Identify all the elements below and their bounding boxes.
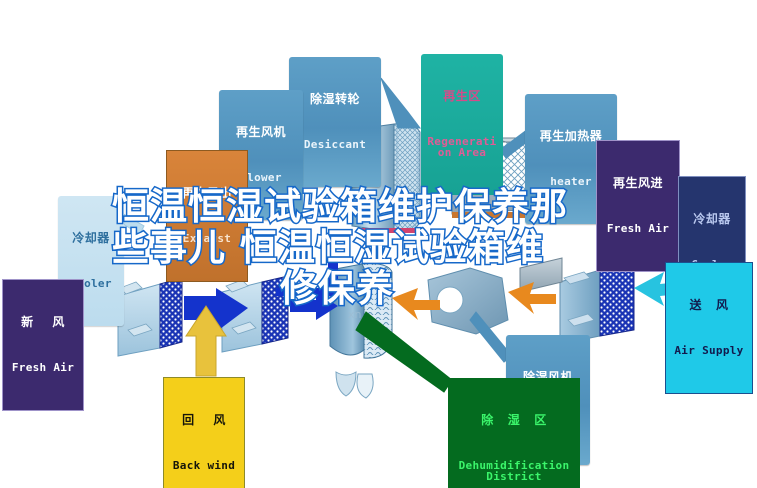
label-regeneration-area-en: Regenerati on Area — [426, 136, 498, 159]
label-dehumidification-district-en: Dehumidification District — [453, 460, 575, 483]
dry-air-arrow-2 — [508, 282, 556, 314]
label-regeneration-exhaust: 再生风出 Exhaust — [166, 150, 248, 282]
label-regeneration-area: 再生区 Regenerati on Area — [421, 54, 503, 195]
label-regeneration-inlet: 再生风进 Fresh Air — [596, 140, 680, 272]
diagram-canvas: xn — [0, 0, 757, 488]
process-duct-1 — [118, 278, 182, 356]
label-cooler-left-cn: 冷却器 — [63, 232, 119, 245]
label-regeneration-inlet-en: Fresh Air — [602, 223, 674, 235]
label-dehumidification-district-cn: 除 湿 区 — [453, 414, 575, 427]
label-back-wind-inlet-cn: 回 风 — [169, 414, 239, 427]
label-regeneration-blower-cn: 再生风机 — [224, 126, 298, 139]
label-regeneration-exhaust-en: Exhaust — [172, 233, 242, 245]
seal-bar-upper — [360, 228, 420, 233]
label-dehumidification-district: 除 湿 区 Dehumidification District — [448, 378, 580, 488]
label-desiccant-wheel-en: Desiccant — [294, 139, 376, 151]
label-desiccant-wheel-cn: 除湿转轮 — [294, 93, 376, 106]
svg-text:xn: xn — [348, 308, 362, 321]
label-fresh-air-inlet-cn: 新 风 — [8, 316, 78, 329]
label-air-supply-outlet: 送 风 Air Supply — [665, 262, 753, 394]
label-regeneration-inlet-cn: 再生风进 — [602, 177, 674, 190]
label-back-wind-inlet-en: Back wind — [169, 460, 239, 472]
label-cooler-right-cn: 冷却器 — [684, 213, 740, 226]
heater-base-bar — [452, 212, 534, 218]
label-air-supply-outlet-en: Air Supply — [671, 345, 747, 357]
label-back-wind-inlet: 回 风 Back wind — [163, 377, 245, 488]
label-fresh-air-inlet-en: Fresh Air — [8, 362, 78, 374]
label-fresh-air-inlet: 新 风 Fresh Air — [2, 279, 84, 411]
label-regeneration-area-cn: 再生区 — [426, 90, 498, 103]
label-regeneration-exhaust-cn: 再生风出 — [172, 187, 242, 200]
label-air-supply-outlet-cn: 送 风 — [671, 299, 747, 312]
